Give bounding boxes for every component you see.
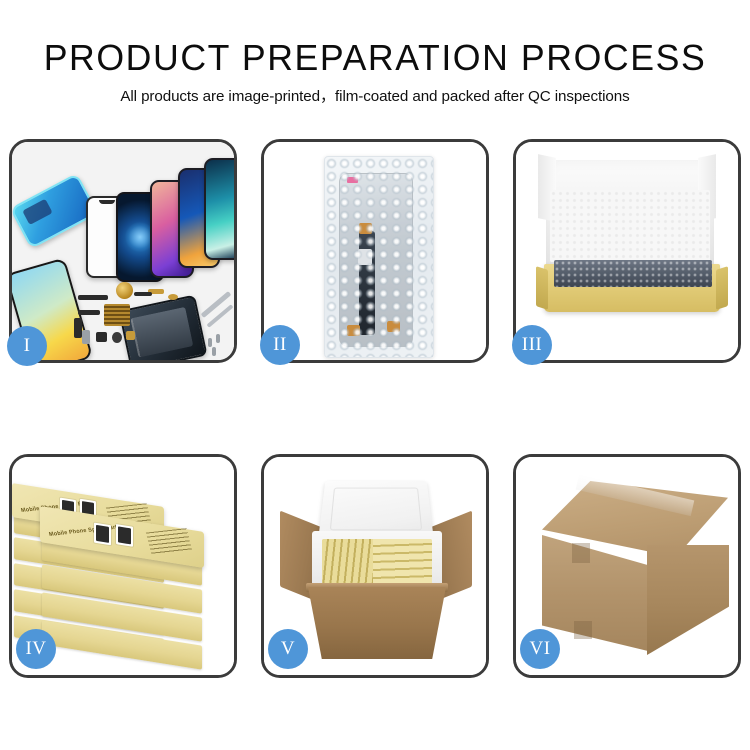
- page-subtitle: All products are image-printed，film-coat…: [0, 78, 750, 106]
- sim-tray-part: [82, 330, 90, 344]
- box-lid-thumbnail-front-b: [116, 524, 133, 547]
- connector-part-b: [168, 294, 178, 300]
- foam-padding-sheet: [550, 190, 710, 262]
- packed-contents: [554, 260, 712, 287]
- step-badge-6: VI: [520, 629, 560, 669]
- carton-front-face: [542, 535, 648, 651]
- ribbon-cable-part: [78, 295, 108, 300]
- step-1-image: [12, 142, 234, 360]
- box-lid-spec-text-front: [146, 528, 192, 555]
- process-step-panel-6[interactable]: VI: [513, 454, 741, 678]
- battery-connector-part: [126, 331, 135, 340]
- screw-part-c: [212, 347, 216, 356]
- flex-cable-part-b: [74, 318, 82, 338]
- step-badge-4: IV: [16, 629, 56, 669]
- process-step-panel-2[interactable]: II: [261, 139, 489, 363]
- process-step-panel-4[interactable]: Mobile Phone Spare Parts Mobile Phone Sp…: [9, 454, 237, 678]
- lcd-driver-chip: [358, 249, 372, 265]
- flex-cable-part-a: [78, 310, 100, 315]
- lcd-connector-top: [359, 223, 372, 234]
- lcd-flex-cable: [359, 231, 375, 335]
- step-badge-3: III: [512, 325, 552, 365]
- screw-tray-part: [104, 304, 130, 326]
- box-lid-thumbnail-front-a: [94, 523, 111, 546]
- bubble-wrap-scene: [264, 142, 486, 360]
- vibrator-part: [112, 332, 122, 343]
- process-step-panel-3[interactable]: III: [513, 139, 741, 363]
- tweezers-tool: [201, 291, 232, 318]
- process-step-panel-5[interactable]: V: [261, 454, 489, 678]
- foam-box-scene: [516, 142, 738, 360]
- screw-part-a: [208, 338, 212, 347]
- button-flex-part: [134, 292, 152, 296]
- phone-logic-board: [118, 295, 207, 360]
- step-badge-2: II: [260, 325, 300, 365]
- packed-retail-boxes: [322, 539, 432, 587]
- carton-side-face: [647, 545, 729, 655]
- page-title: PRODUCT PREPARATION PROCESS: [4, 0, 747, 78]
- carton-body: [308, 587, 446, 659]
- carton-seam-top: [572, 543, 590, 563]
- bubble-wrap-bag: [324, 156, 434, 358]
- step-2-image: [264, 142, 486, 360]
- step-3-image: [516, 142, 738, 360]
- phone-parts-scene: [12, 142, 234, 360]
- lcd-screen-assembly: [339, 173, 413, 347]
- process-step-panel-1[interactable]: I: [9, 139, 237, 363]
- lcd-connector-bottom-right: [387, 321, 400, 332]
- camera-module-part: [96, 332, 107, 342]
- step-badge-5: V: [268, 629, 308, 669]
- step-badge-1: I: [7, 326, 47, 366]
- page-header: PRODUCT PREPARATION PROCESS All products…: [0, 0, 750, 106]
- phone-teal-screen: [204, 158, 234, 260]
- screw-part-b: [216, 334, 220, 343]
- process-step-grid: I II: [9, 139, 741, 678]
- pink-qc-sticker: [347, 177, 358, 183]
- speaker-module-part: [116, 282, 133, 299]
- carton-seam-bottom: [574, 621, 592, 639]
- lcd-connector-bottom-left: [347, 325, 360, 336]
